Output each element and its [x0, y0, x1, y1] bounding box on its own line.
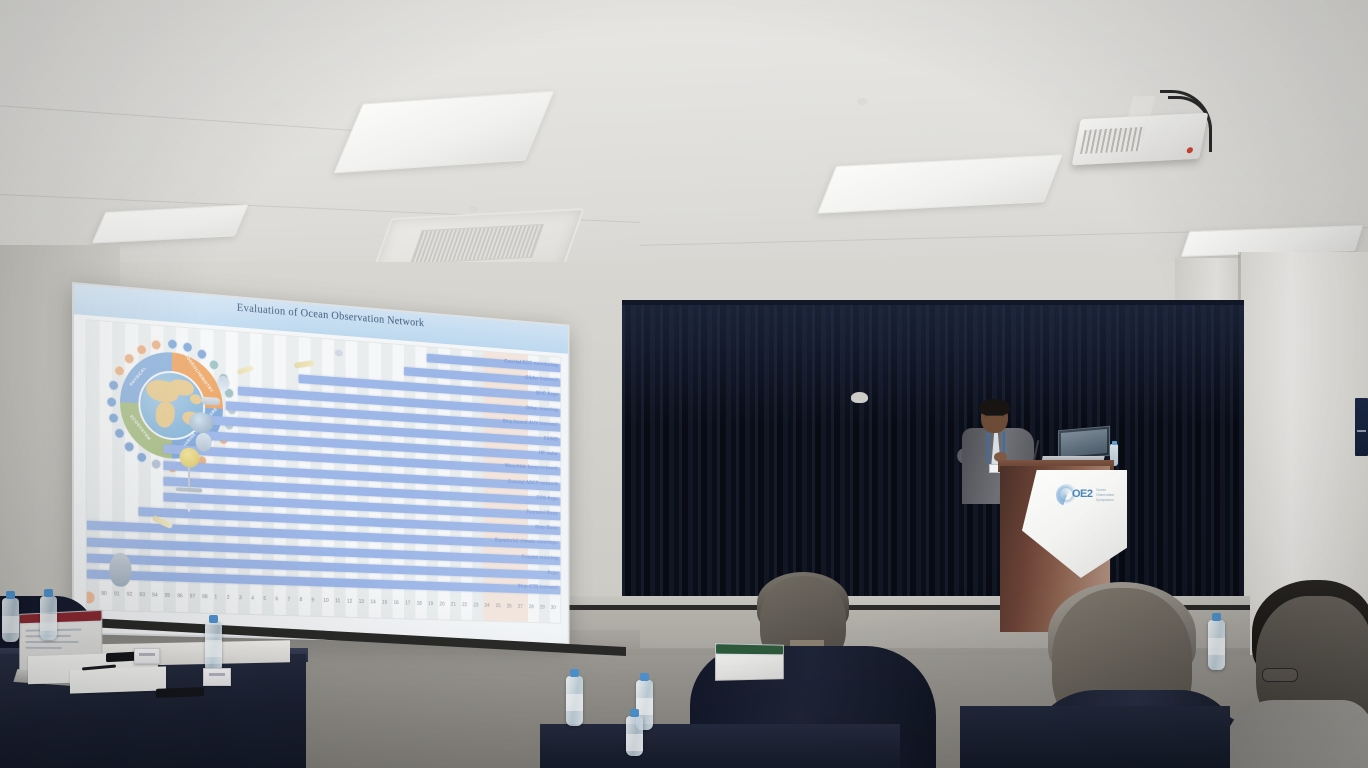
ctd-rosette-icon	[109, 552, 131, 587]
audience-laptop[interactable]	[715, 643, 784, 681]
x-tick-label: 93	[139, 592, 145, 598]
x-tick-label: 28	[529, 604, 534, 610]
auv-icon	[201, 397, 220, 406]
x-tick-label: 1	[214, 595, 217, 601]
x-tick-label: 5	[263, 596, 266, 602]
smoke-detector-icon	[469, 206, 478, 212]
x-tick-label: 95	[165, 593, 171, 599]
x-tick-label: 8	[300, 597, 303, 603]
float-icon	[335, 349, 343, 356]
gantt-bar-label: FAIMS	[544, 436, 558, 442]
x-tick-label: 98	[202, 594, 208, 600]
x-tick-label: 14	[370, 599, 375, 605]
x-tick-label: 7	[288, 597, 291, 603]
audience-table-center	[540, 724, 900, 768]
x-tick-label: 2	[227, 595, 230, 601]
wall-sign	[1355, 398, 1368, 456]
presenter-glasses-icon	[985, 415, 1004, 420]
x-tick-label: 10	[323, 598, 328, 604]
podium-logo-subtitle: Ocean Observation Symposium	[1096, 488, 1122, 503]
phone[interactable]	[156, 687, 204, 698]
water-bottle[interactable]	[2, 598, 19, 642]
audience-glasses-icon	[1262, 668, 1298, 682]
tide-gauge-stem	[188, 467, 190, 489]
podium-logo-text: OE2	[1072, 488, 1093, 500]
water-bottle[interactable]	[1208, 620, 1225, 670]
gantt-bar-label: FOS Argo	[537, 495, 558, 502]
podium-logo: OE2 Ocean Observation Symposium	[1056, 482, 1122, 508]
x-tick-label: 91	[114, 591, 120, 597]
gantt-bar-label: HF radar	[539, 451, 558, 458]
presenter-hair	[979, 399, 1010, 416]
conference-room-scene: Evaluation of Ocean Observation Network …	[0, 0, 1368, 768]
dome-camera-icon	[851, 392, 868, 403]
x-tick-label: 15	[382, 600, 387, 606]
x-tick-label: 26	[507, 604, 512, 610]
x-tick-label: 12	[347, 599, 352, 605]
x-tick-label: 13	[359, 599, 364, 605]
x-tick-label: 16	[394, 600, 399, 606]
curtain-highlight	[622, 305, 1244, 425]
x-tick-label: 30	[551, 605, 556, 611]
x-tick-label: 92	[127, 592, 133, 598]
paper-sheet	[70, 666, 166, 693]
x-tick-label: 21	[451, 602, 456, 608]
ceiling-projector	[1072, 113, 1209, 166]
projection-screen: Evaluation of Ocean Observation Network …	[72, 282, 569, 646]
gantt-bar-label: Ship Buoy	[535, 525, 558, 532]
x-tick-label: 11	[335, 598, 340, 604]
x-tick-label: 22	[462, 602, 467, 608]
x-tick-label: 94	[152, 593, 158, 599]
wall-sign-text	[1357, 430, 1366, 432]
water-bottle[interactable]	[626, 716, 643, 756]
x-tick-label: 6	[275, 596, 278, 602]
name-card	[203, 668, 231, 686]
water-bottle[interactable]	[205, 622, 222, 672]
x-tick-label: 18	[417, 601, 422, 607]
x-tick-label: 90	[101, 591, 107, 597]
x-tick-label: 3	[239, 595, 242, 601]
audience-member-right-dark	[1224, 700, 1368, 768]
slide-content: PHYSICAL BIOGEOCHEMISTRY ECOSYSTEM MARIN…	[86, 319, 561, 624]
gantt-bar-label: Argo	[547, 570, 558, 576]
water-bottle[interactable]	[566, 676, 583, 726]
x-tick-label: 25	[496, 603, 501, 609]
x-tick-label: 96	[177, 593, 183, 599]
x-tick-label: 27	[518, 604, 523, 610]
gantt-bar-chart: Coastal RCC monitoringGlider transectBUC…	[87, 320, 561, 623]
smoke-detector-icon	[857, 98, 868, 105]
x-tick-label: 97	[190, 594, 196, 600]
x-tick-label: 20	[439, 602, 444, 608]
tide-gauge-icon	[180, 447, 200, 468]
radar-buoy-icon	[196, 432, 212, 452]
x-tick-label: 29	[540, 605, 545, 611]
x-tick-label: 24	[485, 603, 490, 609]
mooring-buoy-icon	[217, 375, 229, 391]
x-tick-label: 23	[473, 603, 478, 609]
x-tick-label: 9	[311, 598, 314, 604]
x-tick-label: 4	[251, 596, 254, 602]
x-tick-label: 19	[428, 601, 433, 607]
water-bottle[interactable]	[40, 596, 57, 640]
x-tick-label: 17	[405, 601, 410, 607]
audience-table-right	[960, 706, 1230, 768]
name-card	[134, 648, 160, 664]
